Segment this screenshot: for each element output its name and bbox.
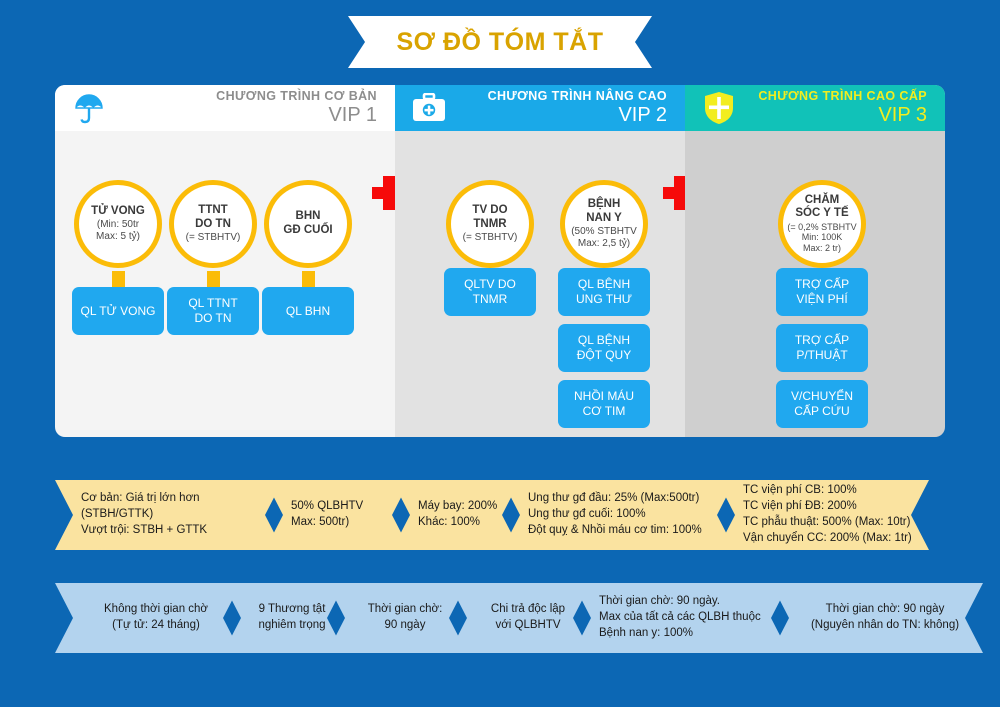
waiting-band-segment[interactable]: 9 Thương tật nghiêm trọng (223, 583, 345, 653)
vip-label-vip3: VIP 3 (739, 105, 927, 126)
program-label-vip3: CHƯƠNG TRÌNH CAO CẤP (739, 90, 927, 103)
segment-text: 9 Thương tật nghiêm trọng (249, 602, 335, 634)
circle-title: TTNT DO TN (195, 204, 231, 230)
benefit-circle[interactable]: TV DO TNMR (= STBHTV) (446, 180, 534, 268)
circle-title: TV DO TNMR (472, 204, 507, 230)
waiting-band-segment[interactable]: Thời gian chờ: 90 ngày (Nguyên nhân do T… (771, 583, 983, 653)
segment-text: Thời gian chờ: 90 ngày (353, 602, 457, 634)
benefit-box[interactable]: QLTV DO TNMR (444, 268, 536, 316)
circle-subtitle: (= STBHTV) (463, 232, 518, 244)
vip-label-vip2: VIP 2 (449, 105, 667, 126)
page-title-ribbon: SƠ ĐỒ TÓM TẮT (348, 16, 652, 68)
waiting-band-segment[interactable]: Không thời gian chờ (Tự tử: 24 tháng) (55, 583, 241, 653)
circle-subtitle: (= 0,2% STBHTV Min: 100K Max: 2 tr) (787, 222, 856, 254)
circle-subtitle: (50% STBHTV Max: 2,5 tỷ) (571, 226, 637, 250)
benefit-box[interactable]: V/CHUYỂN CẤP CỨU (776, 380, 868, 428)
benefit-band-segment[interactable]: Máy bay: 200% Khác: 100% (392, 480, 520, 550)
benefit-box[interactable]: QL BHN (262, 287, 354, 335)
waiting-period-band: Không thời gian chờ (Tự tử: 24 tháng) 9 … (55, 583, 983, 653)
program-header-vip2: CHƯƠNG TRÌNH NÂNG CAO VIP 2 (395, 85, 685, 131)
segment-text: Không thời gian chờ (Tự tử: 24 tháng) (81, 602, 231, 634)
segment-text: Cơ bản: Giá trị lớn hơn (STBH/GTTK) Vượt… (81, 491, 273, 539)
benefit-band-segment[interactable]: 50% QLBHTV Max: 500tr) (265, 480, 410, 550)
segment-text: Thời gian chờ: 90 ngày. Max của tất cả c… (599, 594, 779, 642)
programs-panel: CHƯƠNG TRÌNH CƠ BẢN VIP 1 TỬ VONG (Min: … (55, 85, 945, 437)
program-column-vip1: CHƯƠNG TRÌNH CƠ BẢN VIP 1 TỬ VONG (Min: … (55, 85, 395, 437)
benefit-band-segment[interactable]: Cơ bản: Giá trị lớn hơn (STBH/GTTK) Vượt… (55, 480, 283, 550)
segment-text: Máy bay: 200% Khác: 100% (418, 499, 497, 531)
benefit-band-segment[interactable]: TC viện phí CB: 100% TC viện phí ĐB: 200… (717, 480, 929, 550)
benefit-box[interactable]: TRỢ CẤP P/THUẬT (776, 324, 868, 372)
circle-title: CHĂM SÓC Y TẾ (795, 194, 848, 220)
vip-label-vip1: VIP 1 (109, 105, 377, 126)
segment-text: TC viện phí CB: 100% TC viện phí ĐB: 200… (743, 483, 912, 546)
medical-bag-icon (409, 93, 449, 123)
program-header-labels-vip2: CHƯƠNG TRÌNH NÂNG CAO VIP 2 (449, 90, 671, 125)
program-header-vip1: CHƯƠNG TRÌNH CƠ BẢN VIP 1 (55, 85, 395, 131)
benefit-circle[interactable]: TTNT DO TN (= STBHTV) (169, 180, 257, 268)
benefit-box[interactable]: QL TTNT DO TN (167, 287, 259, 335)
benefit-box[interactable]: QL BỆNH ĐỘT QUY (558, 324, 650, 372)
segment-text: 50% QLBHTV Max: 500tr) (291, 499, 363, 531)
program-column-vip2: CHƯƠNG TRÌNH NÂNG CAO VIP 2 TV DO TNMR (… (395, 85, 685, 437)
circle-title: TỬ VONG (91, 205, 145, 218)
program-header-labels-vip3: CHƯƠNG TRÌNH CAO CẤP VIP 3 (739, 90, 931, 125)
circle-title: BỆNH NAN Y (586, 198, 622, 224)
waiting-band-segment[interactable]: Thời gian chờ: 90 ngày (327, 583, 467, 653)
circle-subtitle: (= STBHTV) (186, 232, 241, 244)
segment-text: Chi trả độc lập với QLBHTV (475, 602, 581, 634)
waiting-band-segment[interactable]: Thời gian chờ: 90 ngày. Max của tất cả c… (573, 583, 789, 653)
benefit-circle[interactable]: BHN GĐ CUỐI (264, 180, 352, 268)
program-label-vip1: CHƯƠNG TRÌNH CƠ BẢN (109, 90, 377, 103)
benefit-circle[interactable]: TỬ VONG (Min: 50tr Max: 5 tỷ) (74, 180, 162, 268)
benefit-box[interactable]: NHỒI MÁU CƠ TIM (558, 380, 650, 428)
circle-title: BHN GĐ CUỐI (283, 210, 332, 236)
benefit-circle[interactable]: CHĂM SÓC Y TẾ (= 0,2% STBHTV Min: 100K M… (778, 180, 866, 268)
benefit-circle[interactable]: BỆNH NAN Y (50% STBHTV Max: 2,5 tỷ) (560, 180, 648, 268)
benefit-band: Cơ bản: Giá trị lớn hơn (STBH/GTTK) Vượt… (55, 480, 929, 550)
program-header-vip3: CHƯƠNG TRÌNH CAO CẤP VIP 3 (685, 85, 945, 131)
waiting-band-segment[interactable]: Chi trả độc lập với QLBHTV (449, 583, 591, 653)
segment-text: Thời gian chờ: 90 ngày (Nguyên nhân do T… (797, 602, 973, 634)
program-column-vip3: CHƯƠNG TRÌNH CAO CẤP VIP 3 CHĂM SÓC Y TẾ… (685, 85, 945, 437)
benefit-band-segment[interactable]: Ung thư gđ đầu: 25% (Max:500tr) Ung thư … (502, 480, 735, 550)
umbrella-icon (69, 91, 109, 125)
program-label-vip2: CHƯƠNG TRÌNH NÂNG CAO (449, 90, 667, 103)
benefit-box[interactable]: QL TỬ VONG (72, 287, 164, 335)
benefit-box[interactable]: QL BỆNH UNG THƯ (558, 268, 650, 316)
benefit-box[interactable]: TRỢ CẤP VIỆN PHÍ (776, 268, 868, 316)
program-header-labels-vip1: CHƯƠNG TRÌNH CƠ BẢN VIP 1 (109, 90, 381, 125)
shield-icon (699, 91, 739, 125)
circle-subtitle: (Min: 50tr Max: 5 tỷ) (96, 219, 140, 243)
segment-text: Ung thư gđ đầu: 25% (Max:500tr) Ung thư … (528, 491, 702, 539)
page-title: SƠ ĐỒ TÓM TẮT (397, 28, 604, 57)
